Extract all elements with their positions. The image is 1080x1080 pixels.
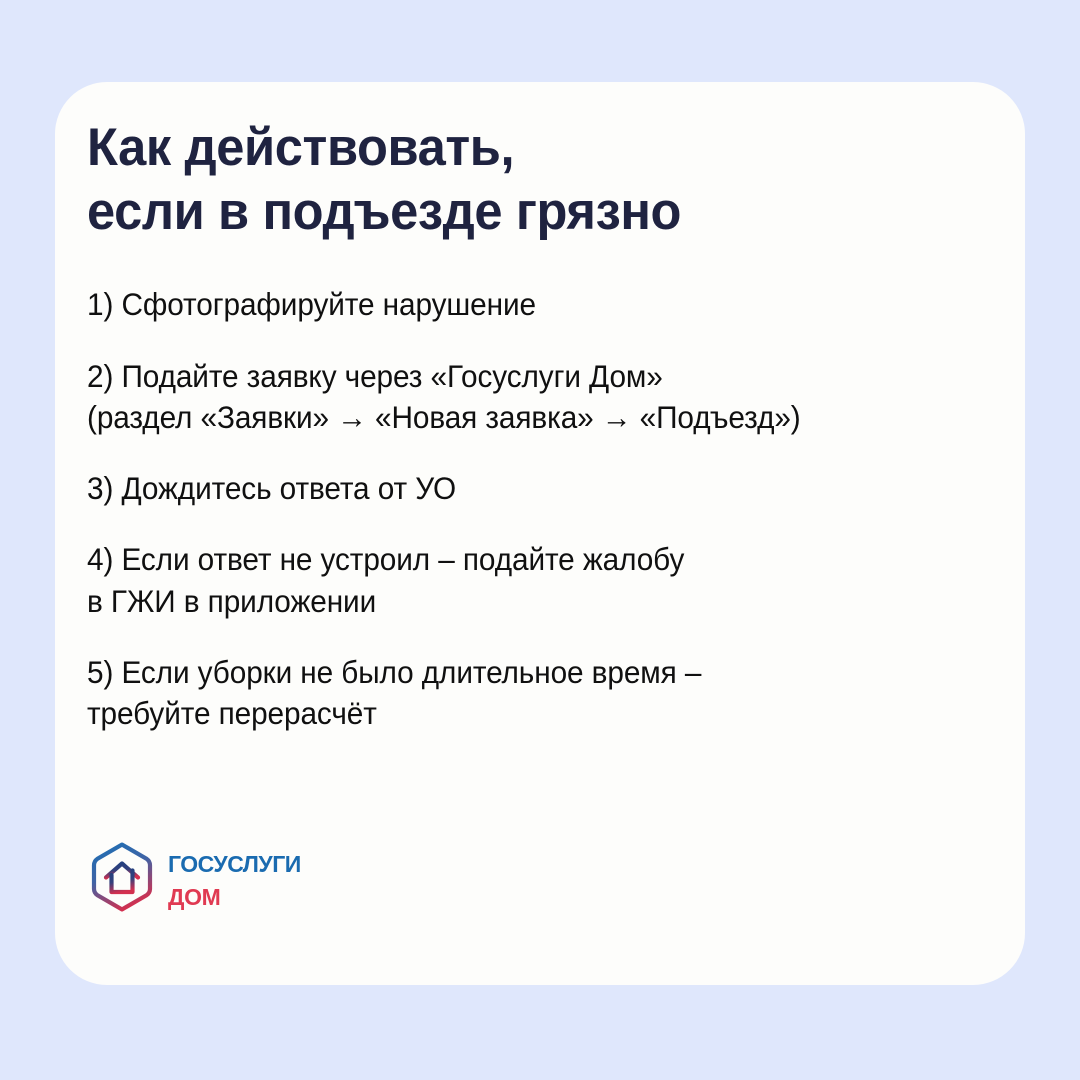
- house-in-hexagon-icon: [89, 841, 155, 913]
- page-title: Как действовать, если в подъезде грязно: [87, 112, 954, 244]
- card-content: Как действовать, если в подъезде грязно …: [87, 112, 995, 961]
- brand-logo: госуслуги дом: [89, 841, 301, 913]
- logo-wordmark: госуслуги дом: [168, 844, 301, 909]
- logo-text-dom: дом: [168, 879, 301, 910]
- infographic-card: Как действовать, если в подъезде грязно …: [55, 82, 1025, 985]
- list-item: 3) Дождитесь ответа от УО: [87, 468, 945, 509]
- logo-text-gosuslugi: госуслуги: [168, 846, 301, 877]
- list-item: 5) Если уборки не было длительное время …: [87, 652, 945, 735]
- list-item: 2) Подайте заявку через «Госуслуги Дом» …: [87, 356, 945, 439]
- list-item: 4) Если ответ не устроил – подайте жалоб…: [87, 539, 945, 622]
- list-item: 1) Сфотографируйте нарушение: [87, 284, 945, 325]
- steps-list: 1) Сфотографируйте нарушение 2) Подайте …: [87, 284, 995, 734]
